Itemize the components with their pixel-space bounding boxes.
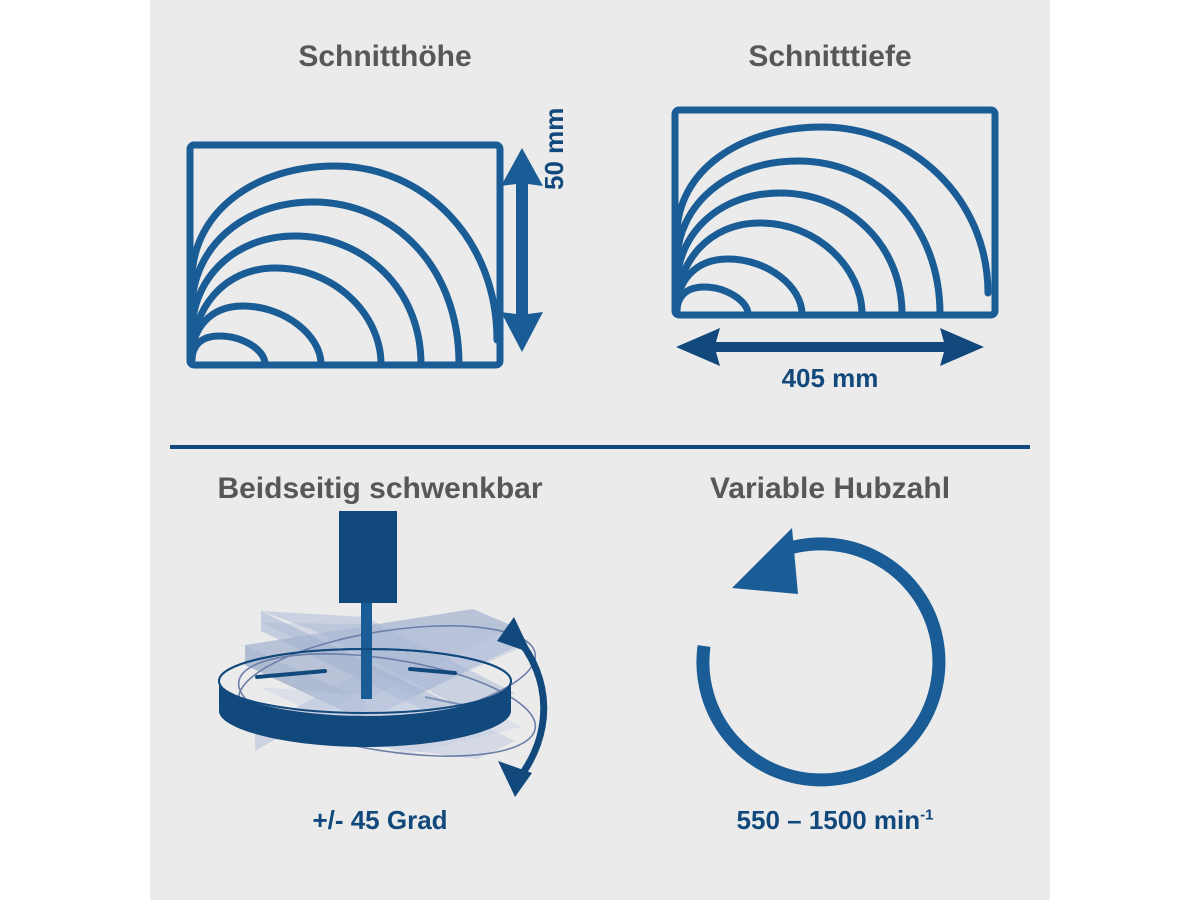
stroke-rate-exponent: -1	[920, 806, 933, 823]
feature-title-tilt-range: Beidseitig schwenkbar	[175, 472, 585, 506]
feature-title-stroke-rate: Variable Hubzahl	[640, 472, 1020, 506]
swivel-table-icon	[215, 505, 565, 805]
feature-value-cut-depth: 405 mm	[690, 363, 970, 394]
wood-block-icon	[185, 140, 505, 370]
infographic-canvas: Schnitthöhe 50 mm Schnitttiefe	[0, 0, 1200, 900]
feature-title-cut-height: Schnitthöhe	[190, 40, 580, 74]
blade-shaft	[361, 603, 372, 699]
feature-value-tilt-range: +/- 45 Grad	[205, 805, 555, 836]
feature-value-stroke-rate: 550 – 1500 min-1	[690, 805, 980, 836]
wood-block-icon	[670, 105, 1000, 320]
stroke-rate-number: 550 – 1500 min	[737, 805, 921, 835]
blade-holder	[339, 511, 397, 603]
section-divider	[170, 445, 1030, 449]
feature-value-cut-height: 50 mm	[539, 108, 570, 190]
feature-title-cut-depth: Schnitttiefe	[640, 40, 1020, 74]
circular-arrow-icon	[670, 510, 970, 800]
